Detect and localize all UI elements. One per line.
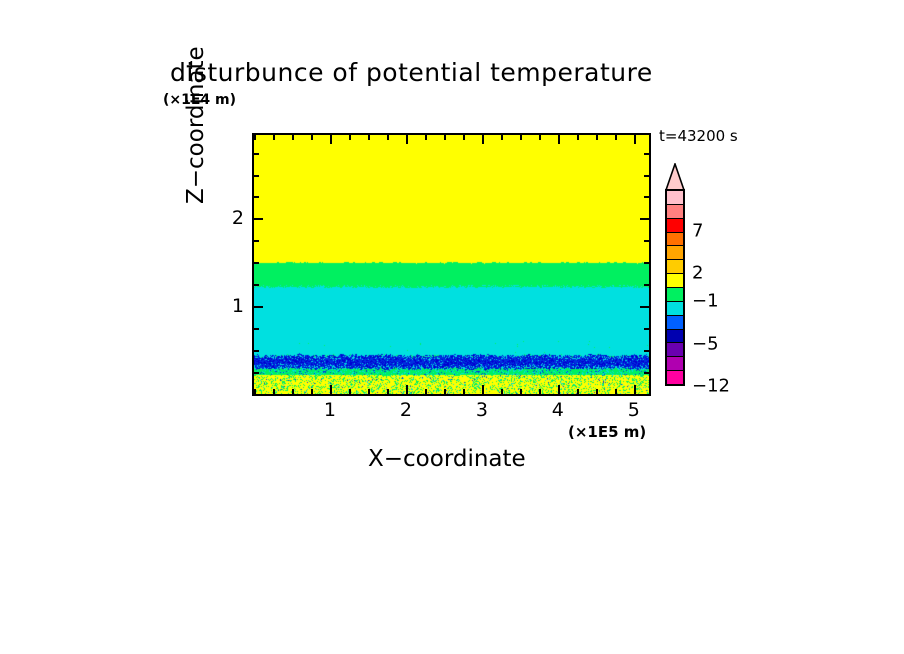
- axis-tick-minor: [615, 135, 617, 140]
- axis-tick-minor: [349, 135, 351, 140]
- colorbar-swatch: [667, 246, 683, 260]
- x-units-label: (×1E5 m): [568, 423, 646, 441]
- axis-tick-minor: [501, 135, 503, 140]
- x-axis-title: X−coordinate: [368, 446, 526, 472]
- x-tick-label: 2: [400, 399, 412, 421]
- axis-tick-minor: [644, 262, 649, 264]
- x-tick-label: 3: [476, 399, 488, 421]
- colorbar-swatch: [667, 343, 683, 357]
- colorbar-swatch: [667, 274, 683, 288]
- y-tick-label: 1: [232, 295, 244, 317]
- axis-tick-minor: [368, 389, 370, 394]
- axis-tick-minor: [520, 135, 522, 140]
- axis-tick-major: [640, 218, 649, 220]
- axis-tick-minor: [425, 389, 427, 394]
- axis-tick-minor: [254, 135, 256, 140]
- axis-tick-minor: [644, 372, 649, 374]
- axis-tick-minor: [349, 389, 351, 394]
- axis-tick-minor: [254, 394, 259, 396]
- axis-tick-minor: [644, 394, 649, 396]
- axis-tick-minor: [501, 389, 503, 394]
- axis-tick-minor: [254, 262, 259, 264]
- colorbar-tick-label: 2: [692, 263, 703, 284]
- axis-tick-minor: [254, 350, 259, 352]
- colorbar-swatch: [667, 233, 683, 247]
- y-tick-label: 2: [232, 207, 244, 229]
- axis-tick-minor: [644, 350, 649, 352]
- colorbar-swatch: [667, 357, 683, 371]
- colorbar-tick-label: −12: [692, 376, 730, 397]
- y-tick-labels: 21: [218, 133, 244, 396]
- axis-tick-minor: [644, 175, 649, 177]
- axis-tick-minor: [644, 284, 649, 286]
- colorbar-tick-label: −1: [692, 291, 719, 312]
- axis-tick-minor: [596, 135, 598, 140]
- colorbar-arrow-icon: [665, 163, 685, 191]
- colorbar-swatch: [667, 205, 683, 219]
- plot-area: [252, 133, 651, 396]
- colorbar-swatch: [667, 330, 683, 344]
- x-tick-label: 4: [552, 399, 564, 421]
- x-tick-label: 1: [324, 399, 336, 421]
- axis-tick-major: [558, 385, 560, 394]
- axis-tick-minor: [644, 153, 649, 155]
- axis-tick-major: [330, 385, 332, 394]
- axis-tick-minor: [425, 135, 427, 140]
- axis-tick-major: [254, 306, 263, 308]
- axis-tick-minor: [273, 135, 275, 140]
- axis-tick-minor: [254, 175, 259, 177]
- y-axis-title: Z−coordinate: [183, 4, 209, 204]
- axis-tick-minor: [644, 240, 649, 242]
- colorbar-swatch: [667, 288, 683, 302]
- figure-canvas: disturbunce of potential temperature (×1…: [0, 0, 904, 654]
- axis-tick-minor: [387, 389, 389, 394]
- axis-tick-minor: [254, 196, 259, 198]
- axis-tick-minor: [539, 135, 541, 140]
- axis-tick-minor: [254, 153, 259, 155]
- axis-tick-minor: [444, 135, 446, 140]
- axis-tick-minor: [254, 284, 259, 286]
- axis-tick-major: [406, 135, 408, 144]
- axis-tick-major: [640, 306, 649, 308]
- axis-tick-minor: [577, 389, 579, 394]
- axis-tick-minor: [368, 135, 370, 140]
- axis-tick-minor: [292, 389, 294, 394]
- axis-tick-minor: [463, 389, 465, 394]
- axis-tick-major: [330, 135, 332, 144]
- axis-tick-minor: [254, 328, 259, 330]
- axis-tick-minor: [463, 135, 465, 140]
- heatmap-canvas: [254, 135, 649, 394]
- axis-tick-minor: [273, 389, 275, 394]
- colorbar-tick-label: 7: [692, 221, 703, 242]
- axis-tick-minor: [292, 135, 294, 140]
- axis-tick-minor: [596, 389, 598, 394]
- axis-tick-minor: [577, 135, 579, 140]
- colorbar-swatch: [667, 302, 683, 316]
- colorbar-swatch: [667, 371, 683, 384]
- axis-tick-major: [634, 135, 636, 144]
- page-title: disturbunce of potential temperature: [170, 58, 653, 87]
- axis-tick-minor: [387, 135, 389, 140]
- axis-tick-minor: [254, 372, 259, 374]
- axis-tick-major: [558, 135, 560, 144]
- axis-tick-minor: [444, 389, 446, 394]
- x-tick-label: 5: [628, 399, 640, 421]
- colorbar-swatch: [667, 316, 683, 330]
- colorbar: [665, 189, 685, 386]
- colorbar-swatch: [667, 260, 683, 274]
- axis-tick-minor: [520, 389, 522, 394]
- axis-tick-major: [482, 385, 484, 394]
- axis-tick-minor: [311, 389, 313, 394]
- axis-tick-minor: [615, 389, 617, 394]
- colorbar-swatch: [667, 219, 683, 233]
- axis-tick-minor: [644, 196, 649, 198]
- axis-tick-major: [482, 135, 484, 144]
- axis-tick-minor: [254, 240, 259, 242]
- axis-tick-major: [406, 385, 408, 394]
- axis-tick-minor: [644, 328, 649, 330]
- time-annotation: t=43200 s: [659, 127, 738, 145]
- axis-tick-major: [634, 385, 636, 394]
- axis-tick-major: [254, 218, 263, 220]
- axis-tick-minor: [311, 135, 313, 140]
- colorbar-tick-label: −5: [692, 333, 719, 354]
- colorbar-swatch: [667, 191, 683, 205]
- axis-tick-minor: [539, 389, 541, 394]
